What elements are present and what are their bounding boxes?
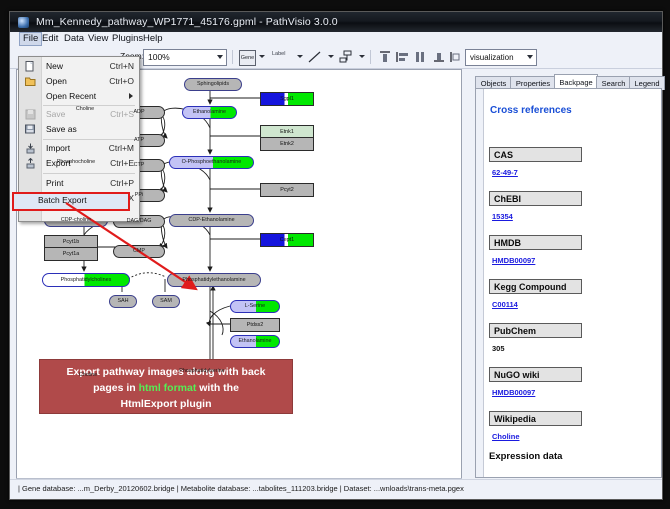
status-text: | Gene database: ...m_Derby_20120602.bri… xyxy=(18,484,464,493)
gene-tool-chevron-down-icon[interactable] xyxy=(259,55,265,58)
gene-label-pcyt2: Pcyt2 xyxy=(280,187,293,193)
gene-label-pcyt1a: Pcyt1a xyxy=(63,251,79,257)
metabolite-node-ethanolamine2[interactable]: Ethanolamine xyxy=(230,335,280,348)
xref-value-wikipedia[interactable]: Choline xyxy=(492,432,520,441)
line-tool-chevron-down-icon[interactable] xyxy=(328,55,334,58)
metabolite-label-cmp: CMP xyxy=(133,248,145,254)
backpage-scrollbar[interactable] xyxy=(476,89,484,477)
metabolite-label-phosphocholine: Phosphocholine xyxy=(57,159,95,165)
metabolite-label-cdpcholine: CDP-choline xyxy=(61,217,91,223)
menu-item-print[interactable]: Print Ctrl+P xyxy=(20,176,138,191)
menu-item-open-label: Open xyxy=(46,76,67,86)
align-top-icon[interactable] xyxy=(378,50,392,64)
application-window: Mm_Kennedy_pathway_WP1771_45176.gpml - P… xyxy=(9,11,663,500)
menu-item-export-accel: Ctrl+E xyxy=(110,158,134,168)
callout-highlight: html format xyxy=(139,382,197,394)
zoom-value: 100% xyxy=(148,52,170,62)
callout-line-2-b: with the xyxy=(196,382,239,394)
menu-item-print-label: Print xyxy=(46,178,63,188)
align-center-icon[interactable] xyxy=(414,50,428,64)
gene-node-sgpl1[interactable]: Sgpl1 xyxy=(260,92,314,106)
chevron-down-icon xyxy=(217,55,223,59)
menu-item-save-as-label: Save as xyxy=(46,124,77,134)
open-folder-icon xyxy=(25,76,36,87)
menu-item-save-accel: Ctrl+S xyxy=(110,109,134,119)
gene-node-etnk2[interactable]: Etnk2 xyxy=(260,137,314,151)
menu-bar: File Edit Data View Plugins Help xyxy=(10,32,662,47)
line-tool-icon[interactable] xyxy=(308,51,322,64)
backpage-content: Cross references CAS 62-49-7 ChEBI 15354… xyxy=(475,88,662,478)
menu-edit[interactable]: Edit xyxy=(39,33,61,45)
callout-line-3: HtmlExport plugin xyxy=(40,396,292,412)
metabolite-node-lserine[interactable]: L-Serine xyxy=(230,300,280,313)
gene-label-etnk1: Etnk1 xyxy=(280,129,294,135)
xref-header-chebi: ChEBI xyxy=(489,191,582,206)
title-bar: Mm_Kennedy_pathway_WP1771_45176.gpml - P… xyxy=(10,12,662,32)
metabolite-node-sah[interactable]: SAH xyxy=(109,295,137,308)
xref-header-kegg: Kegg Compound xyxy=(489,279,582,294)
menu-item-open[interactable]: Open Ctrl+O xyxy=(20,74,138,89)
gene-label-etnk2: Etnk2 xyxy=(280,141,294,147)
gene-node-pcyt1a[interactable]: Pcyt1a xyxy=(44,247,98,261)
xref-header-wikipedia: Wikipedia xyxy=(489,411,582,426)
xref-value-kegg[interactable]: C00114 xyxy=(492,300,518,309)
xref-header-cas: CAS xyxy=(489,147,582,162)
app-icon xyxy=(18,17,29,28)
menu-help[interactable]: Help xyxy=(140,33,166,45)
xref-value-nugo[interactable]: HMDB00097 xyxy=(492,388,535,397)
metabolite-label-adp: ADP xyxy=(133,109,144,115)
expression-data-title: Expression data xyxy=(489,451,562,462)
cross-references-title: Cross references xyxy=(490,105,572,116)
metabolite-label-ptdeth: Phosphatidylethanolamine xyxy=(182,277,245,283)
metabolite-node-cmp[interactable]: CMP xyxy=(113,245,165,258)
metabolite-label-ctp: CTP xyxy=(134,162,145,168)
metabolite-node-ethanolamine1[interactable]: Ethanolamine xyxy=(182,106,237,119)
side-panel-tabs: Objects Properties Backpage Search Legen… xyxy=(475,74,661,89)
xref-header-hmdb: HMDB xyxy=(489,235,582,250)
menu-item-batch-export-label: Batch Export xyxy=(38,195,87,205)
save-as-icon xyxy=(25,124,36,135)
zoom-combobox[interactable]: 100% xyxy=(143,49,227,66)
save-disk-icon xyxy=(25,109,36,120)
metabolite-label-ethanolamine1: Ethanolamine xyxy=(193,109,226,115)
menu-item-batch-export[interactable]: Batch Export xyxy=(12,192,130,211)
visualization-value: visualization xyxy=(470,53,514,62)
gene-tool-button[interactable]: Gene xyxy=(239,50,256,66)
menu-data[interactable]: Data xyxy=(61,33,87,45)
metabolite-label-ptdserine: Phosphatidylserine xyxy=(179,368,225,374)
metabolite-label-ophosphoeth: O-Phosphoethanolamine xyxy=(182,159,242,165)
label-tool-button[interactable]: Label xyxy=(272,51,285,65)
metabolite-label-choline2: Choline xyxy=(79,372,97,378)
window-title: Mm_Kennedy_pathway_WP1771_45176.gpml - P… xyxy=(36,12,338,32)
label-tool-chevron-down-icon[interactable] xyxy=(297,55,303,58)
annotation-callout: Export pathway images along with back pa… xyxy=(39,359,293,414)
align-right-icon[interactable] xyxy=(449,50,461,64)
metabolite-node-sphingolipids[interactable]: Sphingolipids xyxy=(184,78,242,91)
gene-label-ptdss2: Ptdss2 xyxy=(247,322,263,328)
menu-item-save-as[interactable]: Save as xyxy=(20,122,138,137)
xref-value-hmdb[interactable]: HMDB00097 xyxy=(492,256,535,265)
menu-item-open-recent-label: Open Recent xyxy=(46,91,96,101)
gene-node-ptdss2[interactable]: Ptdss2 xyxy=(230,318,280,332)
metabolite-label-sphingolipids: Sphingolipids xyxy=(197,81,229,87)
chevron-down-icon xyxy=(527,55,533,59)
menu-item-new[interactable]: New Ctrl+N xyxy=(20,59,138,74)
align-middle-icon[interactable] xyxy=(432,50,446,64)
callout-line-2-a: pages in xyxy=(93,382,139,394)
metabolite-label-sah: SAH xyxy=(117,298,128,304)
menu-item-save-label: Save xyxy=(46,109,65,119)
metabolite-node-sam[interactable]: SAM xyxy=(152,295,180,308)
screen-background: Mm_Kennedy_pathway_WP1771_45176.gpml - P… xyxy=(0,0,670,509)
menu-item-print-accel: Ctrl+P xyxy=(110,178,134,188)
metabolite-label-atp: ATP xyxy=(134,137,144,143)
side-panel: Objects Properties Backpage Search Legen… xyxy=(465,69,662,478)
callout-line-1: Export pathway images along with back xyxy=(40,364,292,380)
align-left-icon[interactable] xyxy=(396,50,410,64)
status-bar: | Gene database: ...m_Derby_20120602.bri… xyxy=(10,479,662,499)
import-icon xyxy=(25,143,36,154)
gene-label-cept1: Cept1 xyxy=(280,237,294,243)
menu-item-open-recent[interactable]: Open Recent xyxy=(20,89,138,104)
file-menu-separator-3 xyxy=(43,173,135,174)
metabolite-node-ophosphoeth[interactable]: O-Phosphoethanolamine xyxy=(169,156,254,169)
xref-header-pubchem: PubChem xyxy=(489,323,582,338)
gene-node-pcyt2[interactable]: Pcyt2 xyxy=(260,183,314,197)
menu-item-open-accel: Ctrl+O xyxy=(109,76,134,86)
xref-value-pubchem: 305 xyxy=(492,344,505,353)
gene-label-pcyt1b: Pcyt1b xyxy=(63,239,79,245)
toolbar-separator-2 xyxy=(370,50,371,64)
toolbar-separator-1 xyxy=(232,50,233,64)
metabolite-label-sam: SAM xyxy=(160,298,172,304)
menu-item-new-accel: Ctrl+N xyxy=(110,61,134,71)
callout-line-2: pages in html format with the xyxy=(40,380,292,396)
export-icon xyxy=(25,158,36,169)
metabolite-label-lserine: L-Serine xyxy=(245,303,265,309)
metabolite-label-cdpeth: CDP-Ethanolamine xyxy=(188,217,234,223)
shape-tool-chevron-down-icon[interactable] xyxy=(359,55,365,58)
metabolite-node-ptdeth[interactable]: Phosphatidylethanolamine xyxy=(167,273,261,287)
metabolite-node-ptdcholines[interactable]: Phosphatidylcholines xyxy=(42,273,130,287)
gene-label-sgpl1: Sgpl1 xyxy=(280,96,294,102)
xref-value-cas[interactable]: 62-49-7 xyxy=(492,168,518,177)
metabolite-label-ethanolamine2: Ethanolamine xyxy=(239,338,272,344)
metabolite-node-cdpeth[interactable]: CDP-Ethanolamine xyxy=(169,214,254,227)
metabolite-label-dagdag: DAG/DAG xyxy=(127,218,152,224)
xref-header-nugo: NuGO wiki xyxy=(489,367,582,382)
menu-item-import[interactable]: Import Ctrl+M xyxy=(20,141,138,156)
visualization-combobox[interactable]: visualization xyxy=(465,49,537,66)
submenu-arrow-icon xyxy=(129,93,133,99)
metabolite-label-choline: Choline xyxy=(76,106,94,112)
xref-value-chebi[interactable]: 15354 xyxy=(492,212,513,221)
menu-item-new-label: New xyxy=(46,61,63,71)
menu-view[interactable]: View xyxy=(85,33,111,45)
menu-item-import-accel: Ctrl+M xyxy=(109,143,134,153)
metabolite-label-ptdcholines: Phosphatidylcholines xyxy=(61,277,112,283)
metabolite-label-ppi: PPi xyxy=(135,192,143,198)
shape-tool-icon[interactable] xyxy=(339,50,353,64)
menu-item-import-label: Import xyxy=(46,143,70,153)
file-menu-separator-2 xyxy=(43,139,135,140)
gene-node-cept1[interactable]: Cept1 xyxy=(260,233,314,247)
new-file-icon xyxy=(25,61,36,72)
